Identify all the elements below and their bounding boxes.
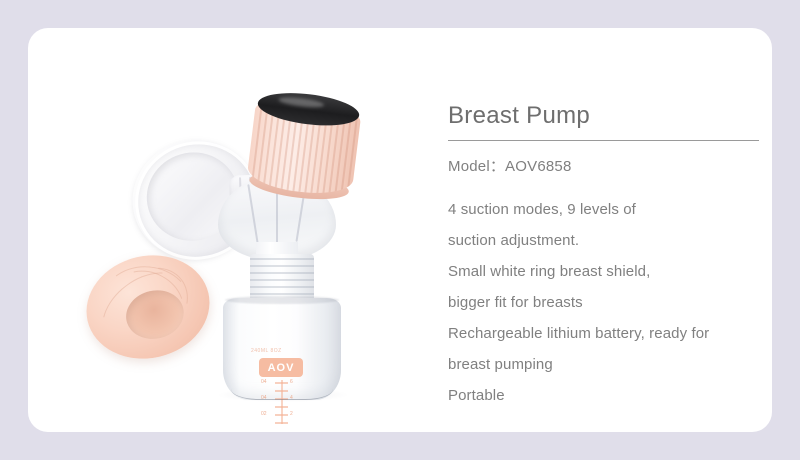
product-detail-banner: 240ML 8OZ AOV 04 04 02 6 4	[0, 0, 800, 460]
bottle-base	[231, 389, 333, 400]
content-card: 240ML 8OZ AOV 04 04 02 6 4	[28, 28, 772, 432]
feature-line: 4 suction modes, 9 levels of	[448, 194, 768, 225]
product-info-panel: Breast Pump Model：AOV6858 4 suction mode…	[448, 102, 768, 411]
motor-unit	[245, 88, 363, 204]
feature-line: Small white ring breast shield,	[448, 256, 768, 287]
feature-line: breast pumping	[448, 349, 768, 380]
bottle-graduations: 04 04 02 6 4 2	[275, 380, 289, 424]
bottle-neck	[250, 254, 314, 302]
feature-line: Rechargeable lithium battery, ready for	[448, 318, 768, 349]
massage-cushion	[76, 243, 220, 370]
page-title: Breast Pump	[448, 102, 768, 140]
feature-list: 4 suction modes, 9 levels of suction adj…	[448, 194, 768, 411]
bottle-shoulder-line	[225, 296, 339, 304]
aov-logo-badge: AOV	[259, 358, 303, 377]
feature-line: suction adjustment.	[448, 225, 768, 256]
cap-highlight	[278, 96, 325, 110]
milk-bottle: 240ML 8OZ AOV 04 04 02 6 4	[223, 254, 341, 400]
feature-line: Portable	[448, 380, 768, 411]
model-label: Model：AOV6858	[448, 155, 768, 176]
bottle-body: 240ML 8OZ AOV 04 04 02 6 4	[223, 298, 341, 400]
product-image: 240ML 8OZ AOV 04 04 02 6 4	[68, 58, 408, 408]
title-divider	[448, 140, 759, 141]
feature-line: bigger fit for breasts	[448, 287, 768, 318]
bottle-capacity-marking: 240ML 8OZ	[251, 348, 282, 354]
